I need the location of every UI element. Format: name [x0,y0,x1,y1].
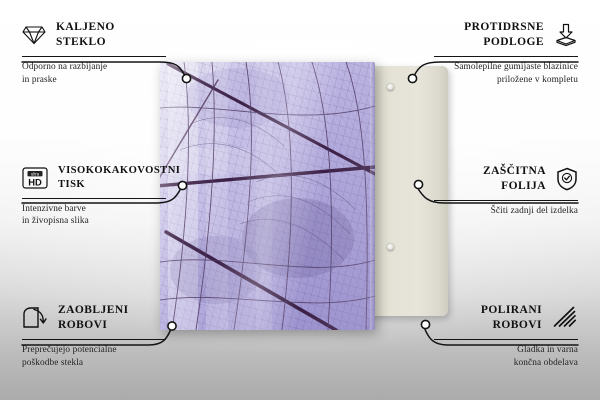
divider [434,200,578,201]
feature-title: VISOKOKAKOVOSTNI TISK [58,164,180,192]
rounded-corner-arrow-icon [22,306,48,330]
feature-subtitle: Samolepilne gumijaste blazinice priložen… [434,61,578,86]
feature-subtitle: Odporno na razbijanje in praske [22,61,166,86]
glass-board-front [160,62,375,330]
feature-subtitle: Intenzivne barve in živopisna slika [22,203,166,228]
divider [22,56,166,57]
leaf-vein-print [160,62,375,330]
infographic-canvas: KALJENO STEKLO Odporno na razbijanje in … [0,0,600,400]
feature-tempered-glass: KALJENO STEKLO Odporno na razbijanje in … [22,20,166,86]
ultra-hd-badge-icon: ultra HD [22,166,48,190]
feature-subtitle: Gladka in varna končna obdelava [434,344,578,369]
stamp-down-arrow-icon [554,23,578,47]
anti-slip-pad [387,84,394,91]
diamond-icon [22,25,46,45]
feature-anti-slip-pads: PROTIDRSNE PODLOGE Samolepilne gumijaste… [434,20,578,86]
feature-subtitle: Preprečujejo potencialne poškodbe stekla [22,344,166,369]
feature-high-quality-print: ultra HD VISOKOKAKOVOSTNI TISK Intenzivn… [22,164,166,228]
diagonal-hatch-icon [552,306,578,330]
feature-title: ZAŠČITNA FOLIJA [483,164,546,194]
feature-subtitle: Ščiti zadnji del izdelka [434,205,578,217]
shield-check-icon [556,167,578,191]
divider [434,56,578,57]
feature-polished-edges: POLIRANI ROBOVI Gladka in varna končna o… [434,303,578,369]
feature-title: PROTIDRSNE PODLOGE [464,20,544,50]
divider [22,198,166,199]
divider [22,339,166,340]
feature-title: POLIRANI ROBOVI [481,303,542,333]
feature-rounded-edges: ZAOBLJENI ROBOVI Preprečujejo potencialn… [22,303,166,369]
panel-edge-highlight [370,62,375,330]
divider [434,339,578,340]
feature-protective-film: ZAŠČITNA FOLIJA Ščiti zadnji del izdelka [434,164,578,218]
anti-slip-pad [387,244,394,251]
feature-title: ZAOBLJENI ROBOVI [58,303,129,333]
hd-label: HD [28,176,42,187]
feature-title: KALJENO STEKLO [56,20,115,50]
